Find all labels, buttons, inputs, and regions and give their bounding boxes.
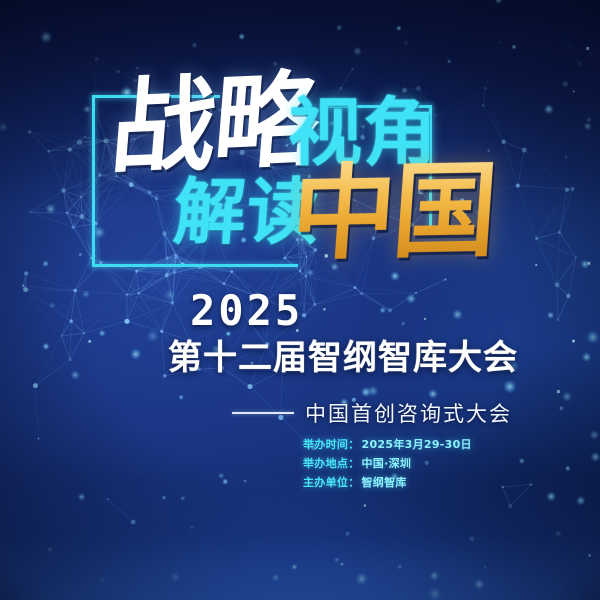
calligraphy-title-block: 战略 视角 解读 中国 (0, 0, 600, 300)
conference-poster: 战略 视角 解读 中国 2025 第十二届智纲智库大会 中国首创咨询式大会 举办… (0, 0, 600, 600)
event-info-value: 2025年3月29-30日 (362, 438, 472, 451)
calligraphy-china: 中国 (288, 158, 498, 266)
event-info-label: 举办时间： (303, 438, 360, 451)
event-info-row: 主办单位：智纲智库 (303, 474, 472, 490)
event-info-label: 主办单位： (303, 476, 360, 489)
event-info-block: 举办时间：2025年3月29-30日举办地点：中国·深圳主办单位：智纲智库 (303, 436, 472, 490)
subtitle-dash-rule (232, 412, 294, 414)
subtitle-text: 中国首创咨询式大会 (305, 398, 512, 428)
event-info-row: 举办地点：中国·深圳 (303, 455, 472, 471)
event-info-value: 智纲智库 (362, 476, 407, 489)
event-info-label: 举办地点： (303, 457, 360, 470)
event-title: 第十二届智纲智库大会 (168, 330, 518, 379)
event-year: 2025 (190, 286, 303, 335)
event-subtitle: 中国首创咨询式大会 (232, 398, 512, 428)
event-info-row: 举办时间：2025年3月29-30日 (303, 436, 472, 452)
event-info-value: 中国·深圳 (362, 457, 412, 470)
